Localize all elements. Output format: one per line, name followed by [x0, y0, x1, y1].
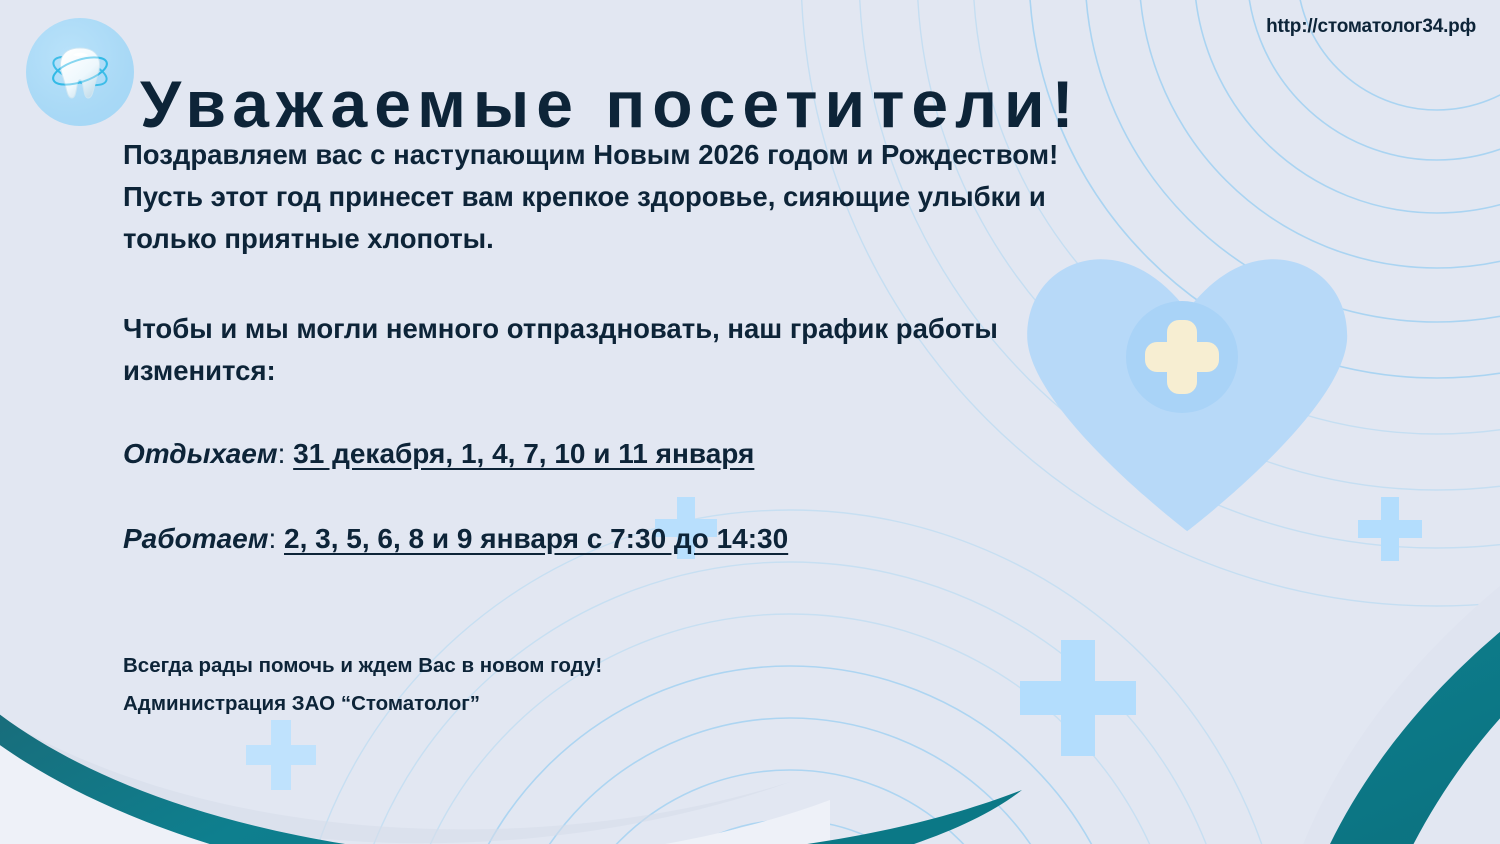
schedule-row-work: Работаем: 2, 3, 5, 6, 8 и 9 января с 7:3…: [123, 519, 1303, 559]
schedule-value-rest: 31 декабря, 1, 4, 7, 10 и 11 января: [293, 438, 754, 469]
tooth-icon: [43, 35, 117, 109]
clinic-logo-badge: [26, 18, 134, 126]
notice-paragraph: Чтобы и мы могли немного отпраздновать, …: [123, 308, 1303, 392]
schedule-label-rest: Отдыхаем: [123, 438, 278, 469]
schedule-label-work: Работаем: [123, 523, 268, 554]
signoff-line-1: Всегда рады помочь и ждем Вас в новом го…: [123, 647, 1303, 685]
schedule-row-rest: Отдыхаем: 31 декабря, 1, 4, 7, 10 и 11 я…: [123, 434, 1303, 474]
spacer: [123, 559, 1303, 647]
signoff-block: Всегда рады помочь и ждем Вас в новом го…: [123, 647, 1303, 723]
greeting-paragraph: Поздравляем вас с наступающим Новым 2026…: [123, 134, 1303, 260]
spacer: [123, 392, 1303, 434]
plus-mark-bottom-left-icon: [246, 720, 316, 790]
plus-mark-right-icon: [1358, 497, 1422, 561]
schedule-separator: :: [278, 438, 294, 469]
signoff-line-2: Администрация ЗАО “Стоматолог”: [123, 685, 1303, 723]
spacer: [123, 260, 1303, 308]
slide-canvas: http://стоматолог34.рф Уважаемые посетит…: [0, 0, 1500, 844]
body-copy: Поздравляем вас с наступающим Новым 2026…: [123, 134, 1303, 723]
spacer: [123, 474, 1303, 519]
site-url[interactable]: http://стоматолог34.рф: [1266, 16, 1476, 38]
page-title: Уважаемые посетители!: [140, 70, 1081, 139]
schedule-value-work: 2, 3, 5, 6, 8 и 9 января с 7:30 до 14:30: [284, 523, 788, 554]
schedule-separator: :: [268, 523, 284, 554]
